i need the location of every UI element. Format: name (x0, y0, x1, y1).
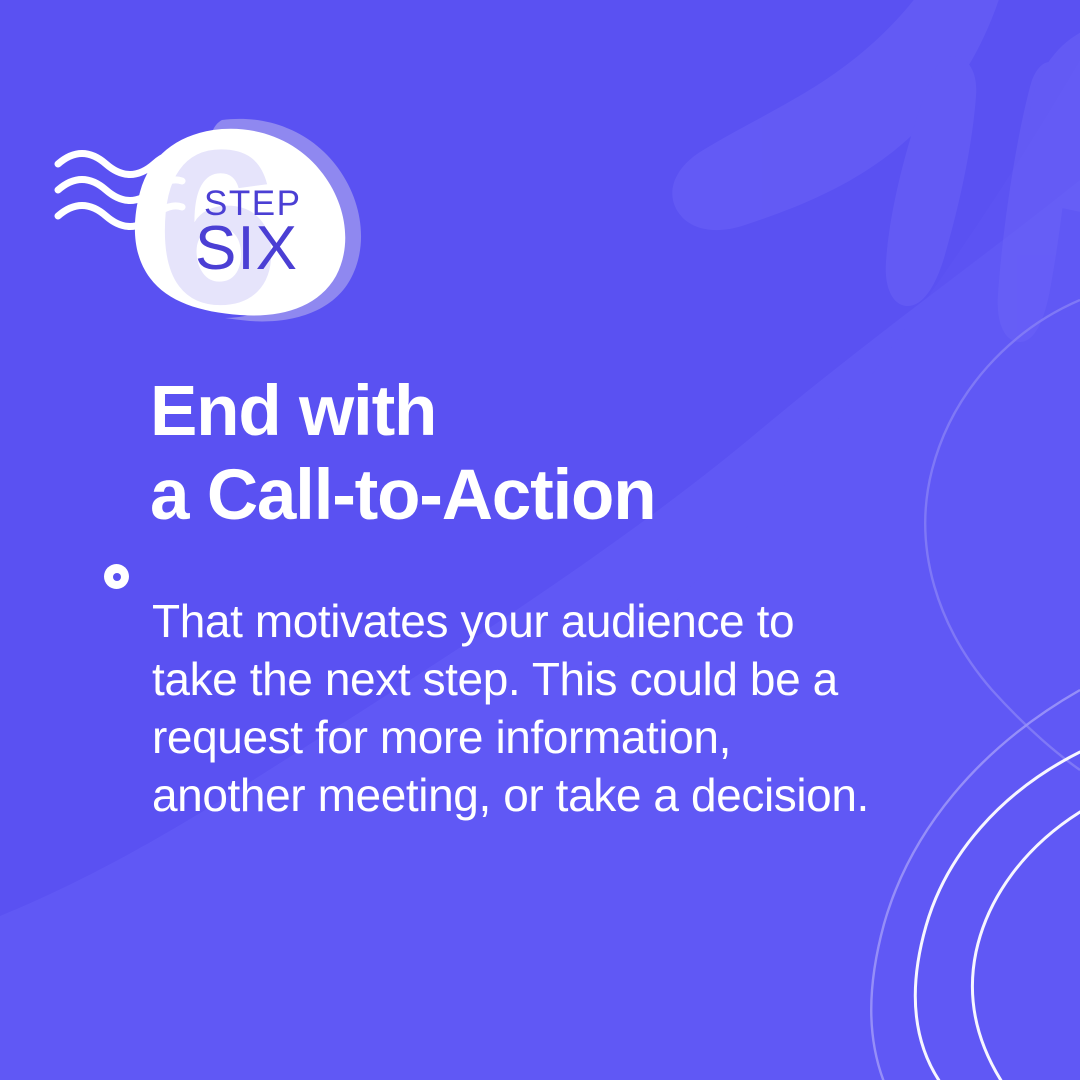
body-line-3: request for more information, (152, 708, 1004, 766)
step-badge: 6 STEP SIX (40, 118, 370, 328)
slide-heading: End with a Call-to-Action (150, 370, 1030, 538)
badge-graphics: 6 (40, 118, 370, 328)
svg-text:6: 6 (157, 118, 279, 328)
badge-number-watermark: 6 (157, 118, 279, 328)
heading-line-2: a Call-to-Action (150, 454, 1030, 538)
body-line-2: take the next step. This could be a (152, 650, 1004, 708)
slide-canvas: 6 STEP SIX End with a Call-to-Action Tha… (0, 0, 1080, 1080)
body-line-4: another meeting, or take a decision. (152, 766, 1004, 824)
body-paragraph: That motivates your audience to take the… (152, 592, 1004, 824)
top-right-splash-shape (672, 0, 1080, 342)
ring-bullet-icon (104, 564, 129, 589)
body-line-1: That motivates your audience to (152, 592, 1004, 650)
body-bullet-item: That motivates your audience to take the… (104, 546, 1004, 870)
heading-line-1: End with (150, 370, 1030, 454)
